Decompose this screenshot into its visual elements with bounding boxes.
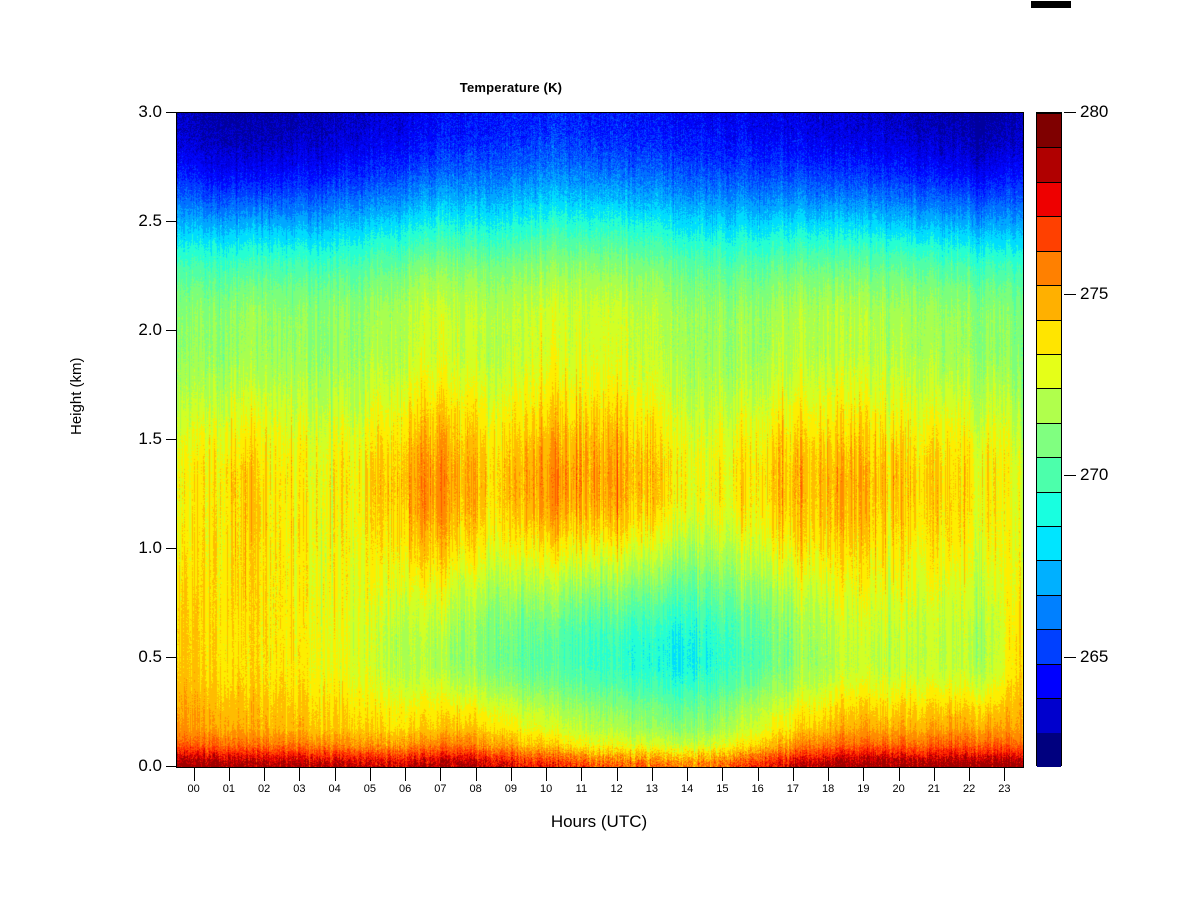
x-axis-tick-label: 04 bbox=[329, 783, 341, 795]
x-axis-tick-label: 19 bbox=[857, 783, 869, 795]
x-axis-tick bbox=[863, 767, 864, 781]
colorbar-swatch bbox=[1037, 182, 1061, 216]
x-axis-tick bbox=[793, 767, 794, 781]
y-axis-tick bbox=[166, 439, 176, 440]
colorbar-swatch bbox=[1037, 492, 1061, 526]
colorbar-swatch bbox=[1037, 457, 1061, 491]
x-axis-tick bbox=[299, 767, 300, 781]
x-axis-tick-label: 05 bbox=[364, 783, 376, 795]
y-axis-tick-label: 2.5 bbox=[138, 211, 162, 231]
colorbar-swatch bbox=[1037, 733, 1061, 767]
x-axis-tick bbox=[405, 767, 406, 781]
colorbar-swatch bbox=[1037, 285, 1061, 319]
colorbar-tick bbox=[1064, 475, 1076, 476]
colorbar-swatch bbox=[1037, 113, 1061, 147]
colorbar-swatch bbox=[1037, 251, 1061, 285]
x-axis-tick-label: 08 bbox=[470, 783, 482, 795]
colorbar-tick-label: 280 bbox=[1080, 102, 1108, 122]
colorbar-swatch bbox=[1037, 526, 1061, 560]
x-axis-tick bbox=[194, 767, 195, 781]
colorbar-tick-label: 275 bbox=[1080, 284, 1108, 304]
x-axis-tick-label: 00 bbox=[188, 783, 200, 795]
colorbar-swatch bbox=[1037, 216, 1061, 250]
colorbar-tick bbox=[1064, 657, 1076, 658]
x-axis-tick-label: 21 bbox=[928, 783, 940, 795]
x-axis-tick bbox=[511, 767, 512, 781]
colorbar-tick-label: 270 bbox=[1080, 465, 1108, 485]
colorbar-swatch bbox=[1037, 320, 1061, 354]
colorbar-swatch bbox=[1037, 354, 1061, 388]
y-axis-tick-label: 1.5 bbox=[138, 429, 162, 449]
x-axis-tick-label: 01 bbox=[223, 783, 235, 795]
y-axis-tick-label: 2.0 bbox=[138, 320, 162, 340]
x-axis-tick bbox=[617, 767, 618, 781]
x-axis-tick-label: 13 bbox=[646, 783, 658, 795]
y-axis-tick bbox=[166, 221, 176, 222]
x-axis-tick bbox=[722, 767, 723, 781]
top-edge-artifact bbox=[1031, 1, 1071, 8]
x-axis-tick-label: 11 bbox=[576, 783, 587, 795]
y-axis-tick-label: 0.0 bbox=[138, 756, 162, 776]
x-axis-label: Hours (UTC) bbox=[176, 812, 1022, 832]
y-axis-tick-label: 0.5 bbox=[138, 647, 162, 667]
figure-canvas: Temperature (K) 0.00.51.01.52.02.53.0 He… bbox=[0, 0, 1200, 900]
colorbar-tick bbox=[1064, 294, 1076, 295]
colorbar bbox=[1036, 112, 1062, 766]
page-title: Temperature (K) bbox=[0, 80, 1022, 95]
y-axis-label: Height (km) bbox=[68, 357, 85, 435]
x-axis-tick-label: 09 bbox=[505, 783, 517, 795]
x-axis-tick-label: 06 bbox=[399, 783, 411, 795]
x-axis-tick-label: 07 bbox=[434, 783, 446, 795]
colorbar-swatch bbox=[1037, 629, 1061, 663]
colorbar-swatch bbox=[1037, 664, 1061, 698]
colorbar-swatch bbox=[1037, 423, 1061, 457]
x-axis-tick bbox=[758, 767, 759, 781]
x-axis-tick bbox=[1004, 767, 1005, 781]
x-axis-tick bbox=[581, 767, 582, 781]
y-axis-tick bbox=[166, 112, 176, 113]
y-axis: 0.00.51.01.52.02.53.0 bbox=[0, 112, 176, 768]
x-axis-tick bbox=[440, 767, 441, 781]
colorbar-swatch bbox=[1037, 560, 1061, 594]
x-axis-tick-label: 18 bbox=[822, 783, 834, 795]
colorbar-swatch bbox=[1037, 595, 1061, 629]
colorbar-swatch bbox=[1037, 698, 1061, 732]
y-axis-tick bbox=[166, 657, 176, 658]
x-axis-tick bbox=[264, 767, 265, 781]
x-axis-tick bbox=[370, 767, 371, 781]
x-axis-tick bbox=[476, 767, 477, 781]
x-axis-tick bbox=[934, 767, 935, 781]
y-axis-tick-label: 3.0 bbox=[138, 102, 162, 122]
x-axis-tick bbox=[335, 767, 336, 781]
heatmap-plot-area bbox=[176, 112, 1024, 768]
x-axis-tick-label: 14 bbox=[681, 783, 693, 795]
x-axis-tick-label: 20 bbox=[893, 783, 905, 795]
colorbar-tick-label: 265 bbox=[1080, 647, 1108, 667]
x-axis-tick-label: 03 bbox=[293, 783, 305, 795]
x-axis-tick bbox=[546, 767, 547, 781]
x-axis-tick-label: 02 bbox=[258, 783, 270, 795]
x-axis-tick bbox=[687, 767, 688, 781]
x-axis-tick bbox=[652, 767, 653, 781]
x-axis-tick-label: 10 bbox=[540, 783, 552, 795]
y-axis-tick bbox=[166, 766, 176, 767]
y-axis-tick bbox=[166, 330, 176, 331]
x-axis-tick-label: 12 bbox=[611, 783, 623, 795]
x-axis-tick bbox=[969, 767, 970, 781]
temperature-heatmap bbox=[177, 113, 1023, 767]
x-axis-tick-label: 17 bbox=[787, 783, 799, 795]
x-axis-tick bbox=[828, 767, 829, 781]
x-axis-tick bbox=[899, 767, 900, 781]
y-axis-tick bbox=[166, 548, 176, 549]
x-axis-tick-label: 15 bbox=[716, 783, 728, 795]
colorbar-tick bbox=[1064, 112, 1076, 113]
x-axis-tick-label: 22 bbox=[963, 783, 975, 795]
colorbar-swatch bbox=[1037, 388, 1061, 422]
y-axis-tick-label: 1.0 bbox=[138, 538, 162, 558]
x-axis-tick-label: 16 bbox=[752, 783, 764, 795]
x-axis-tick-label: 23 bbox=[998, 783, 1010, 795]
colorbar-swatch bbox=[1037, 147, 1061, 181]
x-axis-tick bbox=[229, 767, 230, 781]
